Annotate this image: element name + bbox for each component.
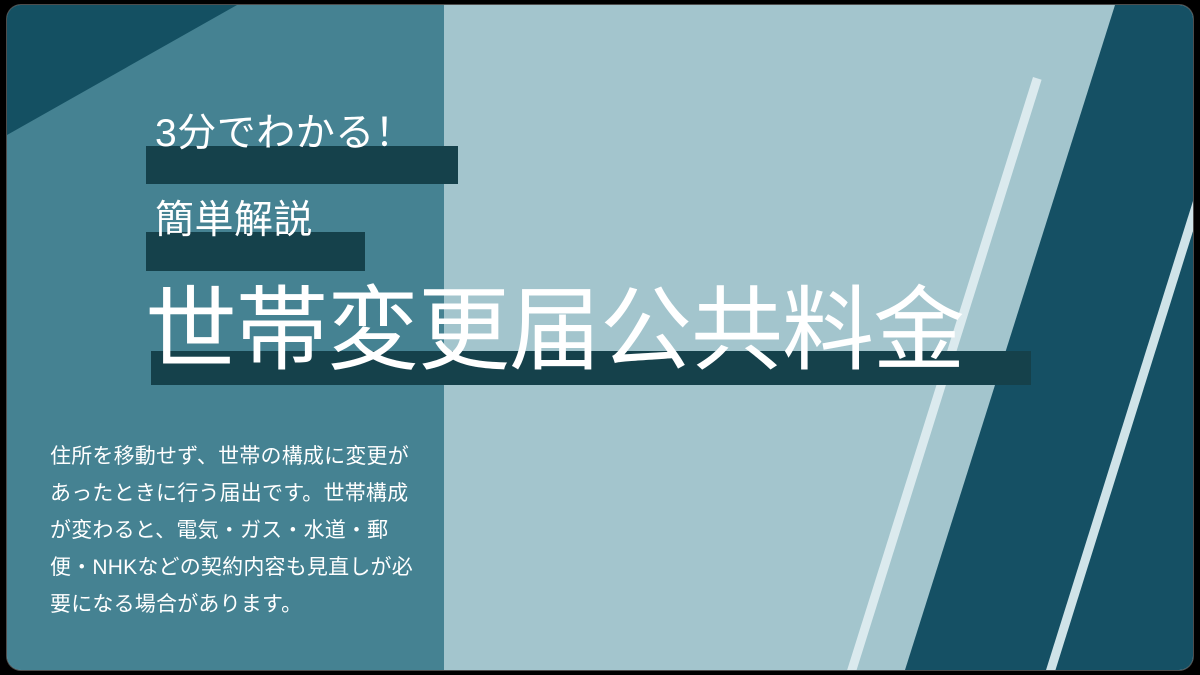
- main-title-row: 世帯変更届公共料金: [145, 279, 964, 383]
- kicker-2-label: 簡単解説: [146, 195, 313, 247]
- slide-content: 3分でわかる！ 簡単解説 世帯変更届公共料金 住所を移動せず、世帯の構成に変更が…: [7, 5, 1193, 670]
- kicker-1-label: 3分でわかる！: [146, 108, 414, 160]
- kicker-line-1: 3分でわかる！: [146, 108, 414, 160]
- body-paragraph: 住所を移動せず、世帯の構成に変更があったときに行う届出です。世帯構成が変わると、…: [50, 438, 428, 623]
- page-title: 世帯変更届公共料金: [145, 279, 964, 383]
- kicker-line-2: 簡単解説: [146, 195, 313, 247]
- slide-canvas: 3分でわかる！ 簡単解説 世帯変更届公共料金 住所を移動せず、世帯の構成に変更が…: [7, 5, 1193, 670]
- slide-root: 3分でわかる！ 簡単解説 世帯変更届公共料金 住所を移動せず、世帯の構成に変更が…: [0, 0, 1200, 675]
